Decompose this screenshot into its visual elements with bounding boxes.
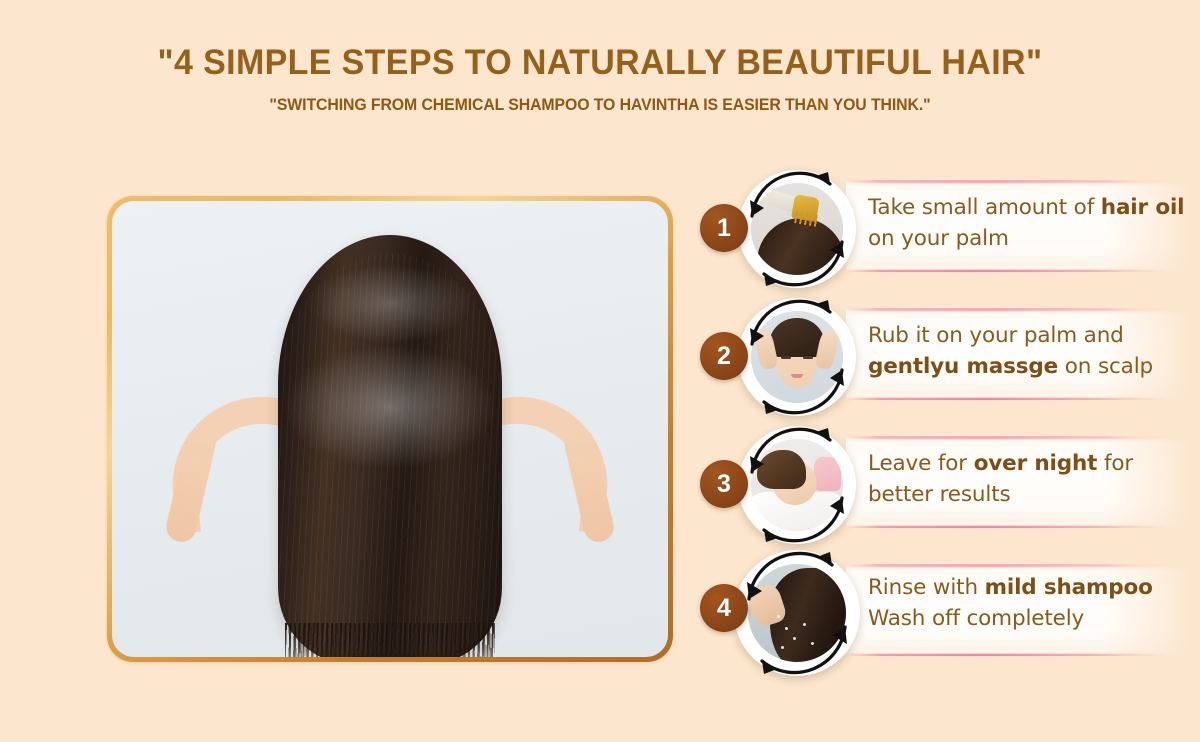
eye-left-icon [781,356,791,359]
step-text-2: Rub it on your palm and gentlyu massge o… [868,320,1200,382]
panel-glow-top-icon [846,436,1194,439]
long-hair-shape [278,235,502,657]
scalp-massage-photo [751,311,843,403]
panel-glow-bottom-icon [846,398,1194,401]
steps-list: 1 Take small amount of hair oil on your … [696,164,1196,676]
step-photo-circle-1 [738,170,856,288]
step-3-line1-plain-b: for [1097,451,1133,476]
list-item[interactable]: 2 Rub it on your palm and gentlyu massge… [696,292,1196,420]
water-drop-icon [803,623,806,626]
step-2-line2-plain: on scalp [1058,354,1153,379]
hero-image [112,201,668,657]
step-number-badge-3: 3 [700,460,748,508]
step-3-line2-plain: better results [868,482,1011,507]
panel-glow-top-icon [846,564,1194,567]
panel-glow-bottom-icon [846,270,1194,273]
eye-right-icon [803,356,813,359]
list-item[interactable]: 3 Leave for over night for better result… [696,420,1196,548]
rinse-shampoo-photo [748,564,846,662]
step-photo-circle-2 [738,298,856,416]
page-title: "4 SIMPLE STEPS TO NATURALLY BEAUTIFUL H… [18,44,1182,82]
step-3-line1-plain-a: Leave for [868,451,974,476]
list-item[interactable]: 4 Rinse with mild shampoo Wash off compl… [696,548,1196,676]
step-2-line1-plain: Rub it on your palm and [868,323,1124,348]
mouth-icon [791,374,802,378]
infographic-poster: "4 SIMPLE STEPS TO NATURALLY BEAUTIFUL H… [0,0,1200,742]
step-3-line1-bold: over night [974,451,1098,476]
panel-glow-bottom-icon [846,654,1194,657]
step-photo-circle-4 [734,550,860,676]
list-item[interactable]: 1 Take small amount of hair oil on your … [696,164,1196,292]
panel-glow-top-icon [846,180,1194,183]
header: "4 SIMPLE STEPS TO NATURALLY BEAUTIFUL H… [0,44,1200,115]
step-1-line1-bold: hair oil [1101,195,1185,220]
hair-shape-icon [757,218,843,275]
step-photo-circle-3 [738,426,856,544]
step-text-1: Take small amount of hair oil on your pa… [868,192,1200,254]
panel-glow-top-icon [846,308,1194,311]
step-1-line2-plain: on your palm [868,226,1009,251]
step-number-badge-2: 2 [700,332,748,380]
step-number-badge-4: 4 [700,584,748,632]
hero-image-frame [107,196,673,662]
step-1-line1-plain: Take small amount of [868,195,1101,220]
page-subtitle: "SWITCHING FROM CHEMICAL SHAMPOO TO HAVI… [24,96,1176,115]
step-text-4: Rinse with mild shampoo Wash off complet… [868,572,1200,634]
hair-oil-application-photo [751,183,843,275]
step-4-line1-plain: Rinse with [868,575,985,600]
step-number-badge-1: 1 [700,204,748,252]
hero-illustration [112,201,668,657]
step-text-3: Leave for over night for better results [868,448,1200,510]
step-4-line2-plain: Wash off completely [868,606,1084,631]
step-2-line2-bold: gentlyu massge [868,354,1058,379]
sleeping-overnight-photo [751,439,843,531]
shirt-icon [814,457,842,490]
hair-shape-icon [757,450,807,489]
panel-glow-bottom-icon [846,526,1194,529]
water-drop-icon [793,637,796,640]
step-4-line1-bold: mild shampoo [985,575,1153,600]
water-drop-icon [785,627,788,630]
